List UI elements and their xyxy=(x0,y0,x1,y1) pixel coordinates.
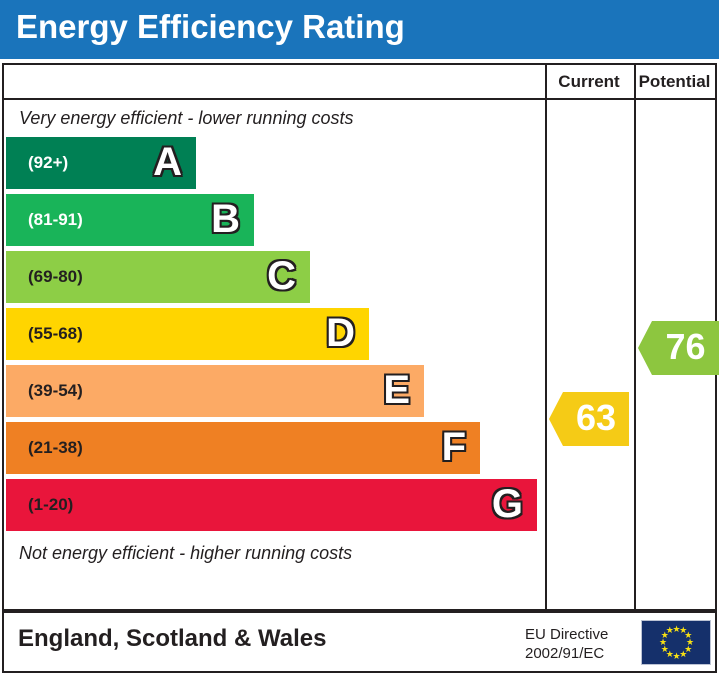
page-title: Energy Efficiency Rating xyxy=(16,8,405,46)
band-list: (92+)A(81-91)B(69-80)C(55-68)D(39-54)E(2… xyxy=(6,137,545,535)
column-divider-potential xyxy=(634,65,636,609)
band-letter-d: D xyxy=(326,308,355,360)
eu-flag-icon: ★★★★★★★★★★★★ xyxy=(641,620,711,665)
band-range-a: (92+) xyxy=(28,137,68,189)
band-letter-c: C xyxy=(267,251,296,303)
column-header-row: Current Potential xyxy=(4,65,715,100)
band-range-d: (55-68) xyxy=(28,308,83,360)
band-e: (39-54)E xyxy=(6,365,424,417)
footer-bar: England, Scotland & Wales EU Directive 2… xyxy=(2,611,717,673)
band-range-e: (39-54) xyxy=(28,365,83,417)
band-letter-g: G xyxy=(492,479,523,531)
band-range-c: (69-80) xyxy=(28,251,83,303)
band-a: (92+)A xyxy=(6,137,196,189)
band-letter-e: E xyxy=(383,365,410,417)
band-letter-b: B xyxy=(211,194,240,246)
rating-value-current: 63 xyxy=(563,392,629,446)
eu-flag-star: ★ xyxy=(666,627,673,634)
rating-value-potential: 76 xyxy=(652,321,719,375)
rating-arrow-potential: 76 xyxy=(638,321,719,375)
eu-flag-star: ★ xyxy=(659,639,666,646)
caption-inefficient: Not energy efficient - higher running co… xyxy=(4,535,545,571)
footer-region-label: England, Scotland & Wales xyxy=(18,625,326,653)
directive-line-1: EU Directive xyxy=(525,625,608,644)
column-divider-current xyxy=(545,65,547,609)
caption-efficient: Very energy efficient - lower running co… xyxy=(4,100,545,136)
band-d: (55-68)D xyxy=(6,308,369,360)
band-g: (1-20)G xyxy=(6,479,537,531)
rating-arrow-current: 63 xyxy=(549,392,629,446)
band-letter-f: F xyxy=(442,422,466,474)
band-range-f: (21-38) xyxy=(28,422,83,474)
band-b: (81-91)B xyxy=(6,194,254,246)
band-letter-a: A xyxy=(153,137,182,189)
band-range-g: (1-20) xyxy=(28,479,73,531)
title-bar: Energy Efficiency Rating xyxy=(0,0,719,59)
energy-efficiency-certificate: Energy Efficiency Rating Current Potenti… xyxy=(0,0,719,675)
column-header-potential: Potential xyxy=(634,65,715,98)
directive-line-2: 2002/91/EC xyxy=(525,644,608,663)
column-header-current: Current xyxy=(545,65,633,98)
footer-directive: EU Directive 2002/91/EC xyxy=(525,625,608,663)
rating-chart: Current Potential Very energy efficient … xyxy=(2,63,717,611)
band-f: (21-38)F xyxy=(6,422,480,474)
band-range-b: (81-91) xyxy=(28,194,83,246)
band-c: (69-80)C xyxy=(6,251,310,303)
